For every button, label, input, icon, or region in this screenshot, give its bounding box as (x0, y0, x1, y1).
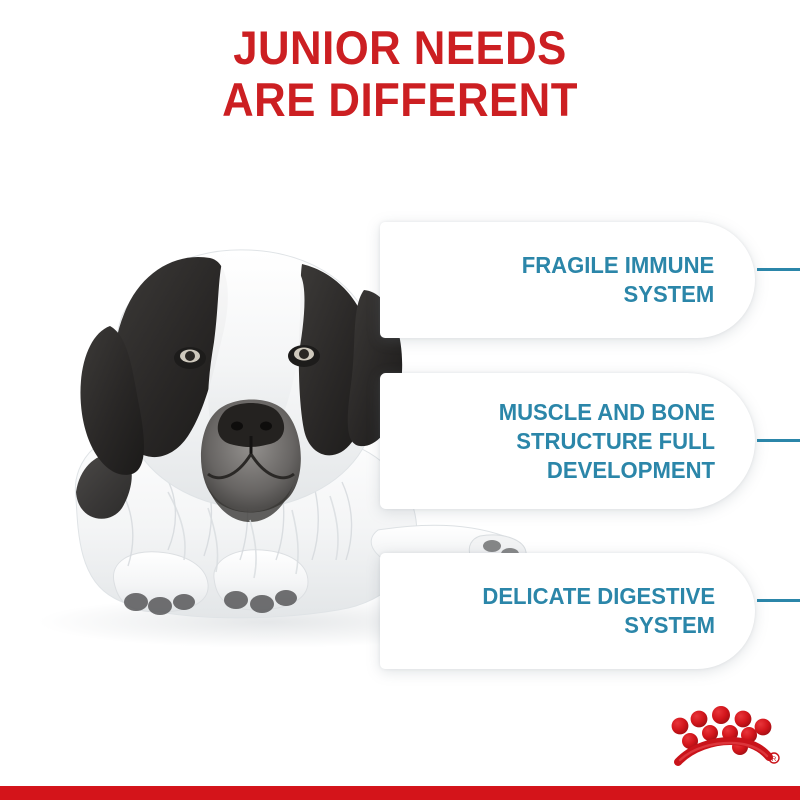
callout-delicate-digestive-system: DELICATE DIGESTIVE SYSTEM (380, 553, 755, 669)
callout-line: STRUCTURE FULL (498, 427, 714, 456)
callout-line: FRAGILE IMMUNE (522, 251, 715, 280)
callout-line: SYSTEM (522, 280, 715, 309)
callout-text: DELICATE DIGESTIVE SYSTEM (482, 582, 755, 640)
callout-fragile-immune-system: FRAGILE IMMUNE SYSTEM (380, 222, 755, 338)
royal-canin-crown-icon: R (668, 700, 786, 770)
svg-text:R: R (772, 756, 777, 763)
headline-line-2: ARE DIFFERENT (28, 74, 772, 126)
headline-line-1: JUNIOR NEEDS (28, 22, 772, 74)
callout-text: MUSCLE AND BONE STRUCTURE FULL DEVELOPME… (498, 398, 755, 485)
connector-line-2 (757, 439, 800, 442)
bottom-brand-bar (0, 786, 800, 800)
callout-line: DELICATE DIGESTIVE (482, 582, 715, 611)
infographic-canvas: JUNIOR NEEDS ARE DIFFERENT (0, 0, 800, 800)
connector-line-3 (757, 599, 800, 602)
callout-line: SYSTEM (482, 611, 715, 640)
connector-line-1 (757, 268, 800, 271)
callout-line: DEVELOPMENT (498, 456, 714, 485)
callout-line: MUSCLE AND BONE (498, 398, 714, 427)
callout-text: FRAGILE IMMUNE SYSTEM (522, 251, 755, 309)
page-title: JUNIOR NEEDS ARE DIFFERENT (28, 22, 772, 126)
callout-muscle-and-bone-structure-full-development: MUSCLE AND BONE STRUCTURE FULL DEVELOPME… (380, 373, 755, 509)
